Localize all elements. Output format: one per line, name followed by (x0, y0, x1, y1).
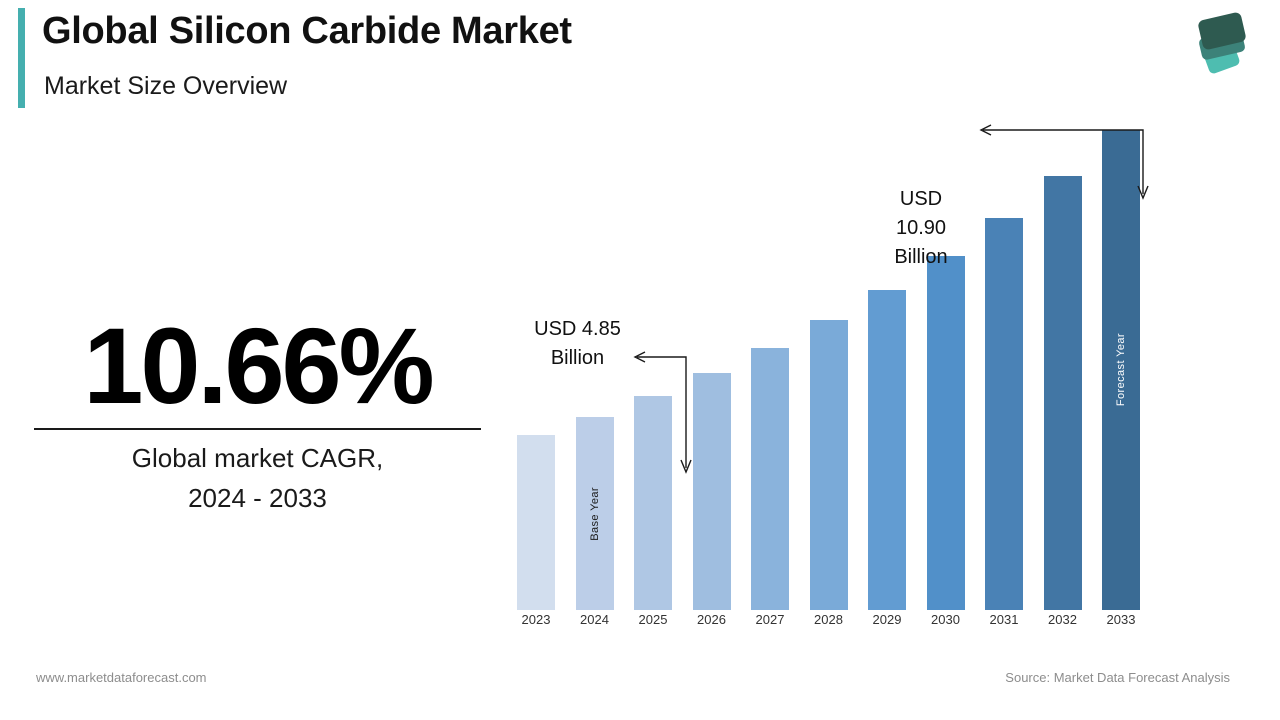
bar-chart: Base YearForecast Year 20232024202520262… (500, 90, 1200, 650)
bar-2029[interactable] (868, 290, 906, 610)
bar-2028[interactable] (810, 320, 848, 610)
annotation-final-year-value: USD 10.90 Billion (875, 185, 967, 272)
bar-2025[interactable] (634, 396, 672, 610)
x-tick-2026: 2026 (682, 612, 741, 627)
cagr-divider (34, 428, 481, 430)
x-tick-2029: 2029 (858, 612, 917, 627)
chart-x-axis: 2023202420252026202720282029203020312032… (500, 612, 1200, 636)
page-subtitle: Market Size Overview (44, 70, 287, 102)
x-tick-2028: 2028 (799, 612, 858, 627)
x-tick-2023: 2023 (507, 612, 566, 627)
bar-inner-label-2033: Forecast Year (1115, 333, 1127, 406)
title-accent-bar (18, 8, 25, 108)
bar-2033[interactable]: Forecast Year (1102, 130, 1140, 610)
cagr-highlight-block: 10.66% Global market CAGR, 2024 - 2033 (30, 310, 485, 518)
footer-website[interactable]: www.marketdataforecast.com (36, 670, 207, 685)
cagr-caption-line-1: Global market CAGR, (30, 438, 485, 478)
x-tick-2030: 2030 (916, 612, 975, 627)
bar-2024[interactable]: Base Year (576, 417, 614, 610)
bar-2026[interactable] (693, 373, 731, 610)
footer-source: Source: Market Data Forecast Analysis (1005, 670, 1230, 685)
x-tick-2033: 2033 (1092, 612, 1151, 627)
stacked-layers-logo-icon (1186, 8, 1258, 78)
bar-2030[interactable] (927, 256, 965, 610)
x-tick-2024: 2024 (565, 612, 624, 627)
x-tick-2031: 2031 (975, 612, 1034, 627)
cagr-value: 10.66% (30, 310, 485, 422)
bar-2023[interactable] (517, 435, 555, 610)
bar-2031[interactable] (985, 218, 1023, 610)
cagr-caption-line-2: 2024 - 2033 (30, 478, 485, 518)
bar-2027[interactable] (751, 348, 789, 610)
x-tick-2025: 2025 (624, 612, 683, 627)
bar-inner-label-2024: Base Year (589, 487, 601, 541)
page-title: Global Silicon Carbide Market (42, 8, 572, 54)
x-tick-2027: 2027 (741, 612, 800, 627)
cagr-caption: Global market CAGR, 2024 - 2033 (30, 438, 485, 518)
x-tick-2032: 2032 (1033, 612, 1092, 627)
bar-2032[interactable] (1044, 176, 1082, 610)
annotation-base-year-value: USD 4.85 Billion (515, 315, 640, 373)
